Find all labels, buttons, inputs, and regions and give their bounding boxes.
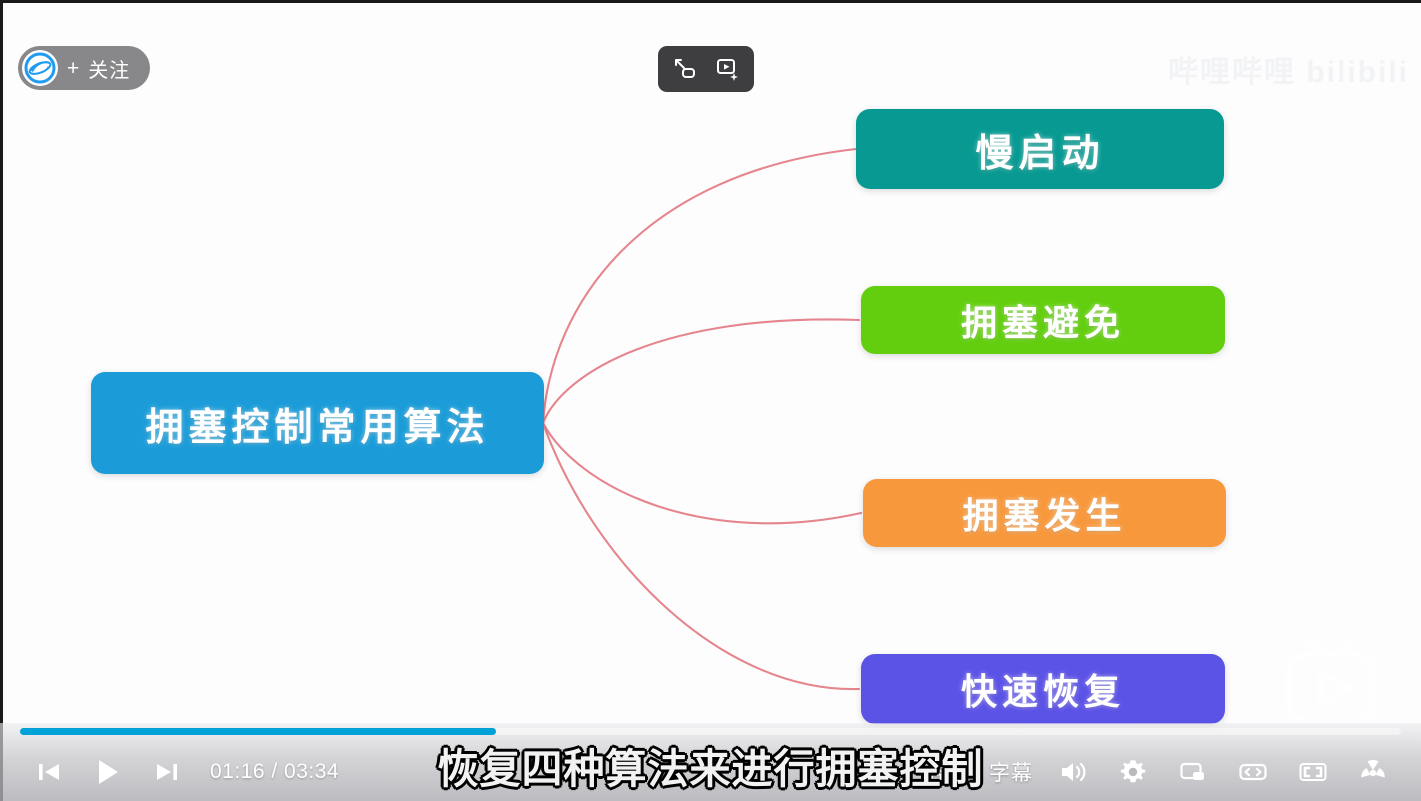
- progress-bar-fill[interactable]: [20, 728, 496, 735]
- previous-icon: [34, 757, 64, 787]
- previous-button[interactable]: [26, 751, 72, 793]
- video-player[interactable]: 拥塞控制常用算法 慢启动 拥塞避免 拥塞发生 快速恢复 哔哩哔哩 bilibil…: [0, 0, 1421, 801]
- plus-icon: +: [67, 58, 79, 79]
- gear-glyph: [1118, 757, 1148, 787]
- next-button[interactable]: [144, 751, 190, 793]
- player-control-bar[interactable]: 01:16 / 03:34 自动 倍速 字幕: [0, 723, 1421, 801]
- playback-speed-button[interactable]: 倍速: [923, 757, 967, 787]
- auto-quality-button[interactable]: 自动: [857, 757, 901, 787]
- mindmap-node-fast-recovery: 快速恢复: [861, 654, 1225, 724]
- mindmap-node-congestion-occurrence: 拥塞发生: [863, 479, 1226, 547]
- wide-screen-glyph: [1238, 757, 1268, 787]
- subtitle-button[interactable]: 字幕: [989, 757, 1033, 787]
- top-tool-pill[interactable]: [658, 46, 754, 92]
- nuclear-icon[interactable]: [1353, 752, 1393, 792]
- shrink-video-glyph: [673, 57, 697, 81]
- time-display: 01:16 / 03:34: [210, 760, 339, 784]
- connector-to-congestion-avoidance: [543, 319, 859, 423]
- picture-in-picture-glyph: [1178, 757, 1208, 787]
- controls-row: 01:16 / 03:34 自动 倍速 字幕: [0, 743, 1421, 801]
- mindmap-node-slow-start: 慢启动: [856, 109, 1224, 189]
- mindmap-root-node: 拥塞控制常用算法: [91, 372, 544, 474]
- shrink-video-icon[interactable]: [668, 52, 702, 86]
- next-icon: [152, 757, 182, 787]
- connector-to-fast-recovery: [543, 423, 859, 689]
- fullscreen-icon[interactable]: [1293, 752, 1333, 792]
- follow-uploader-button[interactable]: + 关注: [18, 46, 150, 90]
- progress-bar-track[interactable]: [20, 728, 1401, 735]
- play-button[interactable]: [80, 749, 134, 795]
- mindmap-node-congestion-avoidance: 拥塞避免: [861, 286, 1225, 354]
- follow-label: 关注: [88, 54, 130, 83]
- volume-icon[interactable]: [1053, 752, 1093, 792]
- picture-in-picture-icon[interactable]: [1173, 752, 1213, 792]
- gear-icon[interactable]: [1113, 752, 1153, 792]
- uploader-avatar-icon: [22, 50, 58, 86]
- connector-to-congestion-occur: [543, 423, 861, 523]
- uploader-avatar[interactable]: [22, 50, 58, 86]
- play-icon: [90, 755, 124, 789]
- volume-glyph: [1058, 757, 1088, 787]
- video-highlights-glyph: [715, 57, 739, 81]
- wide-screen-icon[interactable]: [1233, 752, 1273, 792]
- fullscreen-glyph: [1298, 757, 1328, 787]
- nuclear-glyph: [1358, 757, 1388, 787]
- video-surface[interactable]: 拥塞控制常用算法 慢启动 拥塞避免 拥塞发生 快速恢复 哔哩哔哩 bilibil…: [3, 3, 1421, 801]
- video-highlights-icon[interactable]: [710, 52, 744, 86]
- connector-to-slow-start: [543, 149, 856, 423]
